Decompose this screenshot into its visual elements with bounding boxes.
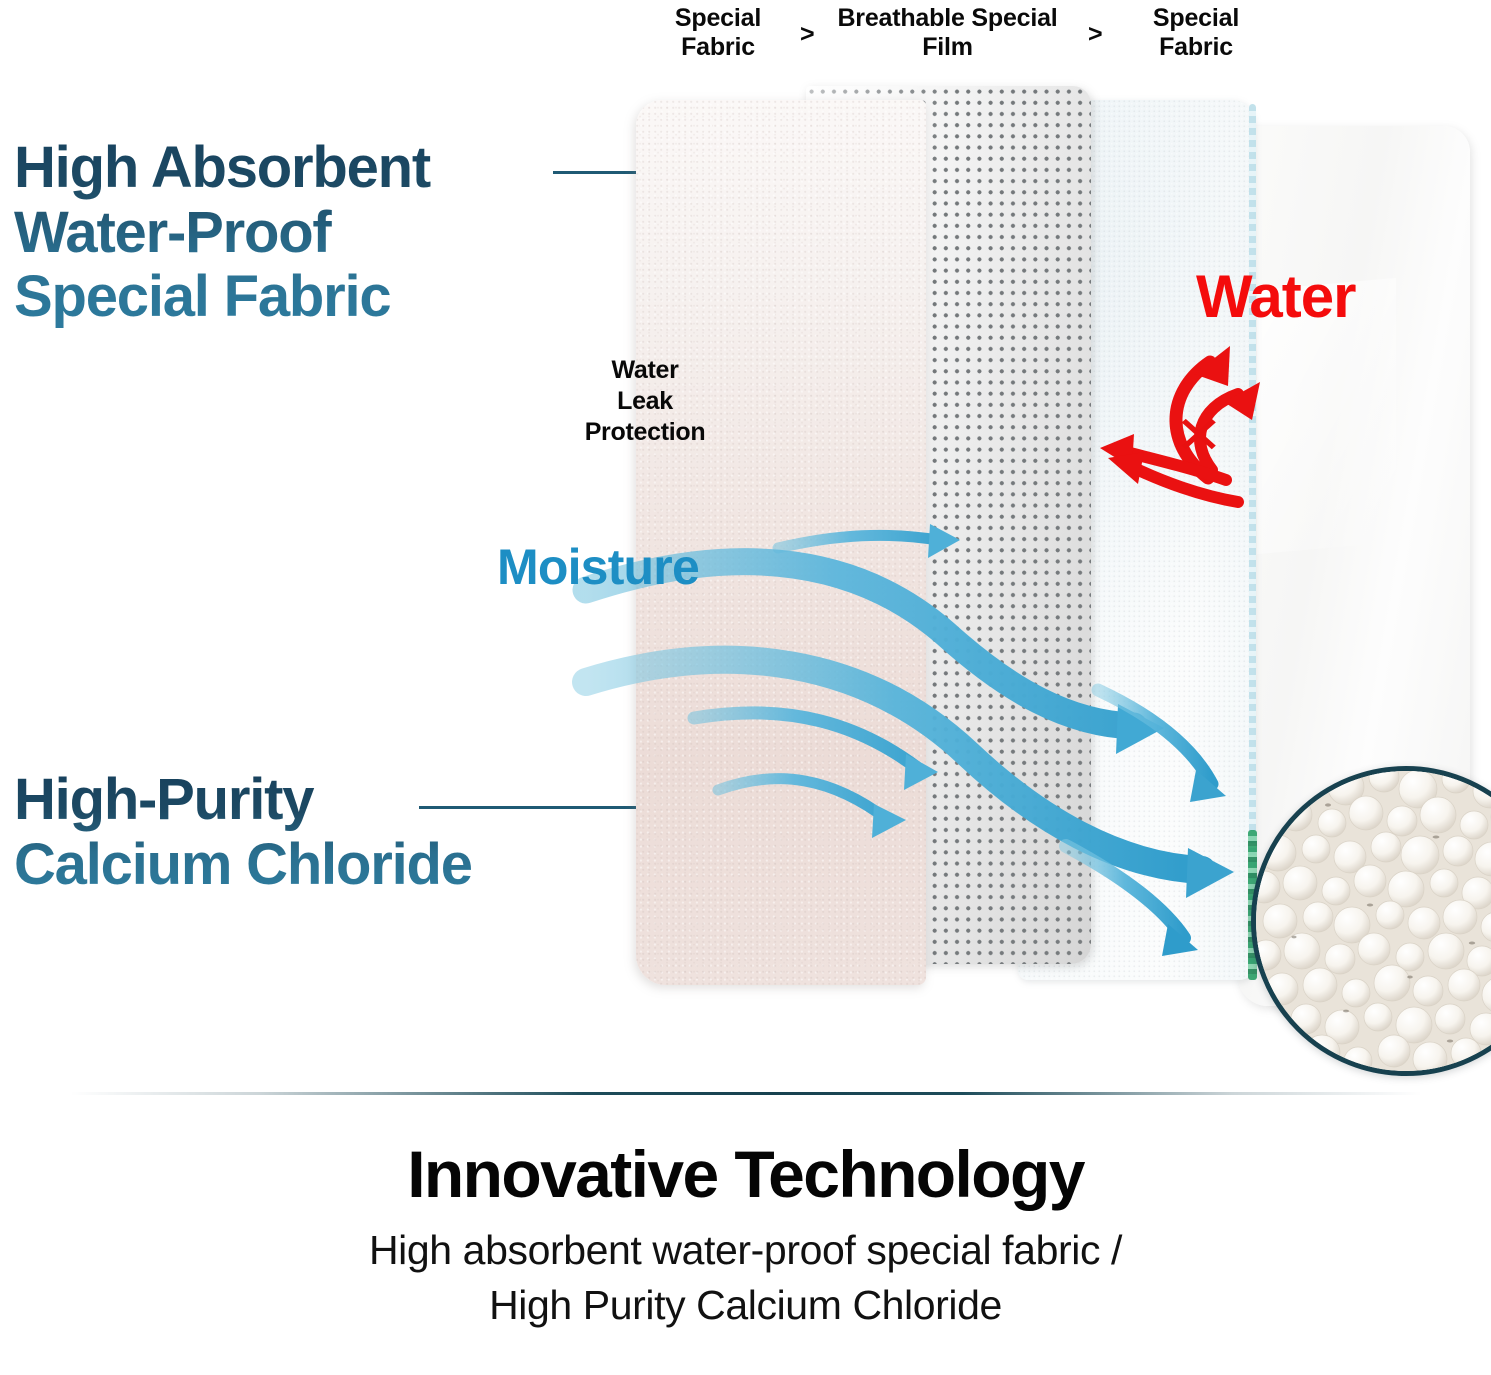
footer-block: Innovative Technology High absorbent wat…: [0, 1140, 1491, 1333]
water-blocked-x-icon: ✕: [1174, 410, 1223, 462]
footer-subtitle: High absorbent water-proof special fabri…: [0, 1223, 1491, 1333]
label-water-leak-protection: Water Leak Protection: [546, 355, 744, 447]
layered-fabric-diagram: [598, 78, 1418, 1008]
layer-label-row: Special Fabric > Breathable Special Film…: [620, 2, 1320, 82]
heading-high-purity-calcium-chloride: High-Purity Calcium Chloride: [14, 768, 614, 897]
layer-label-breathable-special-film: Breathable Special Film: [820, 4, 1075, 63]
label-water: Water: [1196, 262, 1355, 331]
section-divider: [70, 1092, 1422, 1095]
layer-separator-icon-1: >: [800, 20, 815, 49]
heading-high-absorbent: High Absorbent Water-Proof Special Fabri…: [14, 136, 554, 330]
layer-label-special-fabric-front: Special Fabric: [638, 4, 798, 63]
label-moisture: Moisture: [497, 538, 699, 596]
calcium-chloride-closeup-circle: [1251, 766, 1491, 1076]
calcium-chloride-pellets: [1251, 766, 1491, 1076]
footer-title: Innovative Technology: [0, 1140, 1491, 1210]
layer-label-special-fabric-back: Special Fabric: [1116, 4, 1276, 63]
layer-separator-icon-2: >: [1088, 20, 1103, 49]
